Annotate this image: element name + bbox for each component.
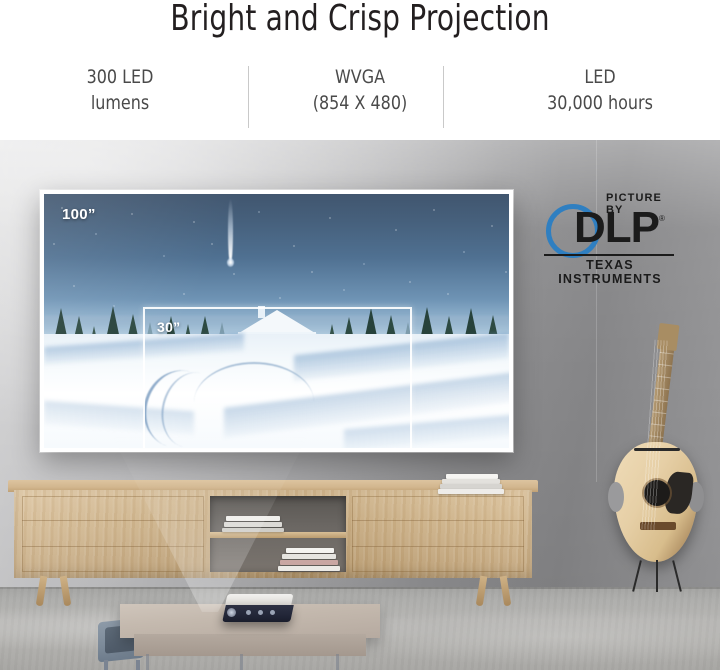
book bbox=[224, 522, 282, 527]
spec-resolution-line2: (854 X 480) bbox=[259, 90, 461, 116]
projected-image: 100” 30” bbox=[44, 194, 509, 448]
spec-item-resolution: WVGA (854 X 480) bbox=[240, 64, 480, 116]
dlp-registered-mark: ® bbox=[659, 214, 665, 223]
projector-lens-icon bbox=[227, 608, 236, 617]
product-feature-image: Bright and Crisp Projection 300 LED lume… bbox=[0, 0, 720, 670]
dlp-company-name: TEXAS INSTRUMENTS bbox=[544, 258, 676, 286]
tv-console bbox=[8, 480, 538, 598]
dlp-divider-rule bbox=[544, 254, 674, 256]
portable-projector bbox=[224, 594, 294, 624]
guitar-stand bbox=[632, 558, 682, 592]
book bbox=[222, 528, 284, 532]
spec-divider-2 bbox=[443, 66, 444, 128]
spec-row: 300 LED lumens WVGA (854 X 480) LED 30,0… bbox=[0, 64, 720, 116]
spec-lumens-line1: 300 LED bbox=[19, 64, 221, 90]
dlp-logo: PICTURE BY DLP ® TEXAS INSTRUMENTS bbox=[536, 192, 682, 278]
book bbox=[226, 516, 280, 521]
comet-head-icon bbox=[227, 258, 234, 267]
spec-item-lumens: 300 LED lumens bbox=[0, 64, 240, 116]
book bbox=[286, 548, 334, 553]
dlp-wordmark: DLP bbox=[574, 206, 659, 250]
header-band: Bright and Crisp Projection 300 LED lume… bbox=[0, 0, 720, 140]
book bbox=[282, 554, 336, 559]
console-door-right bbox=[352, 496, 524, 572]
console-door-left bbox=[22, 496, 204, 572]
spec-divider-1 bbox=[248, 66, 249, 128]
console-shelf-divider bbox=[210, 532, 346, 538]
page-title: Bright and Crisp Projection bbox=[79, 0, 641, 39]
spec-resolution-line1: WVGA bbox=[259, 64, 461, 90]
room-scene: 100” 30” PICTURE BY DLP ® TEXAS INSTRUME… bbox=[0, 132, 720, 670]
screen-size-label-30: 30” bbox=[157, 319, 180, 335]
spec-item-lamp-life: LED 30,000 hours bbox=[480, 64, 720, 116]
book bbox=[278, 566, 340, 571]
guitar-stand-yoke bbox=[634, 448, 680, 451]
book bbox=[280, 560, 338, 565]
spec-lamp-line1: LED bbox=[499, 64, 701, 90]
wall-seam bbox=[596, 132, 597, 482]
guitar-waist-left bbox=[608, 482, 624, 512]
console-body bbox=[14, 490, 532, 578]
acoustic-guitar bbox=[604, 322, 708, 592]
coffee-table-apron bbox=[134, 634, 366, 656]
inner-size-frame-30: 30” bbox=[143, 307, 412, 448]
spec-lamp-line2: 30,000 hours bbox=[499, 90, 701, 116]
spec-lumens-line2: lumens bbox=[19, 90, 221, 116]
screen-size-label-100: 100” bbox=[62, 206, 96, 223]
book bbox=[438, 489, 504, 494]
comet-tail-icon bbox=[228, 198, 233, 264]
projection-screen: 100” 30” bbox=[40, 190, 513, 452]
